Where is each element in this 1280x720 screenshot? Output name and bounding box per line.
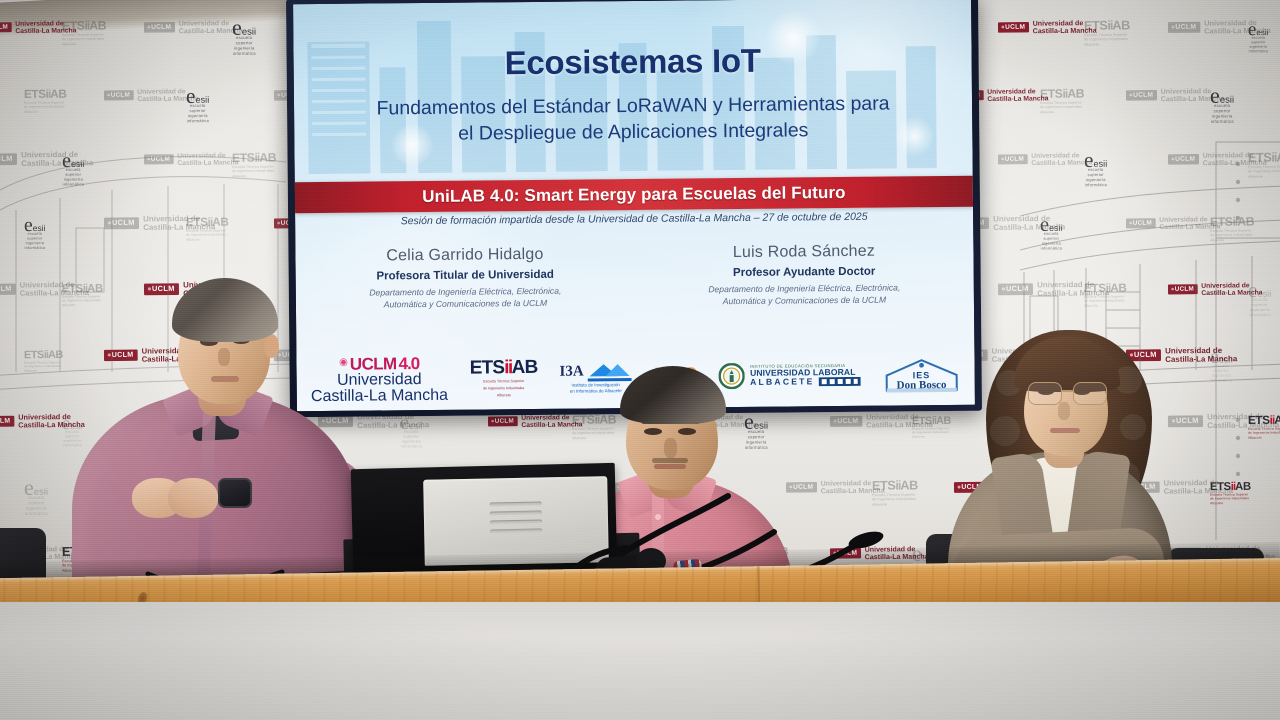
esii-glyph: eesii: [1248, 281, 1271, 298]
person-left-smartwatch: [218, 478, 252, 508]
esii-sub: escuelasuperioringenieríainformática: [1084, 168, 1108, 188]
logo-etsiiab: ETSiiAB Escuela Técnica Superior de Inge…: [470, 358, 538, 398]
banner-logo-etsiiab: ETSiiABEscuela Técnica Superiorde Ingeni…: [1084, 282, 1127, 308]
uclm-mark: ●UCLM: [0, 22, 12, 32]
etsiiab-sub: Escuela Técnica Superiorde Ingenieros In…: [186, 229, 229, 242]
banner-logo-etsiiab: ETSiiABEscuela Técnica Superiorde Ingeni…: [1248, 414, 1280, 440]
etsiiab-sub: Escuela Técnica Superiorde Ingenieros In…: [1248, 427, 1280, 440]
uclm-mark: ●UCLM: [1168, 154, 1199, 165]
uclm-mark: ●UCLM: [488, 416, 518, 426]
esii-glyph: eesii: [1210, 87, 1234, 105]
presentation-screen: Ecosistemas IoT Fundamentos del Estándar…: [286, 0, 982, 417]
slide-banner-text: UniLAB 4.0: Smart Energy para Escuelas d…: [422, 182, 846, 206]
slide-subtitle: Fundamentos del Estándar LoRaWAN y Herra…: [338, 90, 928, 148]
uclm-mark: ●UCLM: [998, 283, 1033, 295]
etsiiab-acronym: ETSiiAB: [1084, 282, 1127, 294]
etsiiab-acronym: ETSiiAB: [1210, 480, 1251, 492]
etsiiab-acronym: ETSiiAB: [24, 349, 63, 360]
speaker-name: Luis Roda Sánchez: [634, 242, 973, 263]
banner-logo-esii: eesiiescuelasuperioringenieríainformátic…: [1210, 87, 1235, 125]
banner-logo-etsiiab: ETSiiABEscuela Técnica Superiorde Ingeni…: [186, 216, 229, 242]
slide-banner-bar: UniLAB 4.0: Smart Energy para Escuelas d…: [295, 176, 973, 214]
esii-sub: escuelasuperioringenieríainformática: [232, 36, 256, 57]
uclm-mark: ●UCLM: [998, 154, 1028, 164]
banner-logo-esii: eesiiescuelasuperioringenieríainformátic…: [1210, 348, 1233, 383]
speaker-block: Luis Roda Sánchez Profesor Ayudante Doct…: [634, 242, 974, 308]
esii-glyph: eesii: [400, 414, 423, 430]
esii-sub: escuelasuperioringenieríainformática: [62, 168, 85, 187]
uclm-mark: ●UCLM: [1126, 90, 1157, 101]
banner-logo-esii: eesiiescuelasuperioringenieríainformátic…: [1040, 216, 1063, 251]
person-left-hair: [172, 278, 278, 342]
logo-uclm-number: 4.0: [398, 355, 419, 372]
banner-logo-esii: eesiiescuelasuperioringenieríainformátic…: [186, 87, 210, 124]
esii-sub: escuelasuperioringenieríainformática: [1040, 232, 1063, 251]
etsiiab-sub: Escuela Técnica Superiorde Ingenieros In…: [1084, 295, 1127, 308]
banner-logo-etsiiab: ETSiiABEscuela Técnica Superiorde Ingeni…: [1040, 87, 1084, 114]
person-left-hand: [168, 478, 218, 518]
slide-title: Ecosistemas IoT: [293, 40, 971, 85]
logo-etsiiab-b: AB: [512, 357, 538, 378]
banner-logo-uclm: ●UCLMUniversidad deCastilla-La Mancha: [1126, 216, 1221, 231]
uclm-text: Universidad deCastilla-La Mancha: [177, 152, 238, 166]
screenshot-root: ●UCLMUniversidad deCastilla-La ManchaETS…: [0, 0, 1280, 720]
esii-sub: escuelasuperioringenieríainformática: [1210, 104, 1234, 125]
banner-logo-esii: eesiiescuelasuperioringenieríainformátic…: [24, 479, 49, 517]
banner-logo-etsiiab: ETSiiABEscuela Técnica Superiorde Ingeni…: [1210, 215, 1254, 242]
uclm-mark: ●UCLM: [104, 217, 139, 229]
logo-etsiiab-a: ETS: [470, 358, 505, 379]
banner-logo-esii: eesiiescuelasuperioringenieríainformátic…: [400, 414, 423, 449]
uclm-mark: ●UCLM: [0, 284, 16, 296]
speaker-department: Departamento de Ingeniería Eléctrica, El…: [635, 281, 974, 308]
etsiiab-sub: Escuela Técnica Superiorde Ingenieros In…: [232, 165, 276, 178]
banner-logo-uclm: ●UCLMUniversidad deCastilla-La Mancha: [104, 88, 199, 103]
desk-front-panel: [0, 602, 1280, 720]
uclm-mark: ●UCLM: [1126, 218, 1156, 228]
banner-logo-etsiiab: ETSiiABEscuela Técnica Superiorde Ingeni…: [24, 349, 63, 373]
banner-logo-uclm: ●UCLMUniversidad deCastilla-La Mancha: [144, 152, 239, 167]
person-right-glasses: [1028, 382, 1106, 404]
banner-logo-etsiiab: ETSiiABEscuela Técnica Superiorde Ingeni…: [62, 19, 106, 46]
etsiiab-sub: Escuela Técnica Superiorde Ingenieros In…: [1210, 229, 1254, 242]
esii-sub: escuelasuperioringenieríainformática: [186, 104, 210, 124]
banner-logo-esii: eesiiescuelasuperioringenieríainformátic…: [62, 152, 85, 187]
esii-sub: escuelasuperioringenieríainformática: [24, 496, 48, 517]
banner-logo-uclm: ●UCLMUniversidad deCastilla-La Mancha: [998, 152, 1093, 167]
esii-glyph: eesii: [62, 152, 85, 168]
uclm-mark: ●UCLM: [1168, 284, 1198, 294]
etsiiab-sub: Escuela Técnica Superiorde Ingenieros In…: [1040, 101, 1084, 114]
esii-sub: escuelasuperioringenieríainformática: [400, 430, 423, 449]
person-left-ear: [264, 334, 279, 358]
etsiiab-sub: Escuela Técnica Superiorde Ingenieros In…: [1248, 165, 1280, 179]
etsiiab-sub: Escuela Técnica Superiorde Ingenieros In…: [24, 361, 63, 373]
speaker-dept-line2: Automática y Comunicaciones de la UCLM: [635, 293, 974, 308]
banner-logo-esii: eesiiescuelasuperioringenieríainformátic…: [1084, 151, 1108, 188]
uclm-mark: ●UCLM: [1168, 22, 1200, 33]
esii-sub: escuelasuperioringenieríainformática: [1210, 364, 1233, 383]
esii-glyph: eesii: [1040, 216, 1063, 232]
esii-glyph: eesii: [1248, 22, 1269, 37]
logo-etsiiab-sub3: Albacete: [497, 393, 511, 398]
etsiiab-acronym: ETSiiAB: [232, 151, 276, 164]
banner-logo-uclm: ●UCLMUniversidad deCastilla-La Mancha: [998, 19, 1097, 34]
etsiiab-acronym: ETSiiAB: [1210, 215, 1254, 228]
etsiiab-acronym: ETSiiAB: [24, 88, 67, 100]
etsiiab-acronym: ETSiiAB: [62, 19, 106, 32]
logo-etsiiab-sub1: Escuela Técnica Superior: [483, 380, 524, 385]
etsiiab-acronym: ETSiiAB: [1248, 151, 1280, 164]
esii-glyph: eesii: [186, 87, 209, 104]
etsiiab-sub: Escuela Técnica Superiorde Ingenieros In…: [1084, 33, 1130, 47]
uclm-mark: ●UCLM: [998, 22, 1029, 33]
etsiiab-acronym: ETSiiAB: [186, 216, 229, 228]
slide-content: Ecosistemas IoT Fundamentos del Estándar…: [293, 0, 975, 411]
banner-logo-etsiiab: ETSiiABEscuela Técnica Superiorde Ingeni…: [1084, 19, 1130, 47]
banner-logo-uclm: ●UCLMUniversidad deCastilla-La Mancha: [144, 19, 243, 34]
etsiiab-sub: Escuela Técnica Superiorde Ingenieros In…: [912, 427, 951, 439]
esii-glyph: eesii: [24, 217, 46, 233]
uclm-mark: ●UCLM: [104, 90, 134, 100]
uclm-mark: ●UCLM: [0, 416, 14, 427]
etsiiab-acronym: ETSiiAB: [1248, 414, 1280, 426]
etsiiab-acronym: ETSiiAB: [1084, 19, 1130, 32]
etsiiab-sub: Escuela Técnica Superiorde Ingenieros In…: [24, 101, 67, 114]
banner-logo-etsiiab: ETSiiABEscuela Técnica Superiorde Ingeni…: [1248, 151, 1280, 179]
screen-bezel: Ecosistemas IoT Fundamentos del Estándar…: [286, 0, 982, 417]
slide-session-note: Sesión de formación impartida desde la U…: [295, 210, 973, 229]
banner-logo-esii: eesiiescuelasuperioringenieríainformátic…: [232, 19, 257, 57]
esii-sub: escuelasuperioringenieríainformática: [24, 232, 46, 250]
banner-logo-esii: eesiiescuelasuperioringenieríainformátic…: [1248, 281, 1272, 318]
etsiiab-acronym: ETSiiAB: [912, 415, 951, 426]
uclm-mark: ●UCLM: [144, 22, 175, 33]
banner-logo-etsiiab: ETSiiABEscuela Técnica Superiorde Ingeni…: [912, 415, 951, 439]
banner-logo-etsiiab: ETSiiABEscuela Técnica Superiorde Ingeni…: [24, 88, 67, 114]
etsiiab-sub: Escuela Técnica Superiorde Ingenieros In…: [1210, 493, 1251, 505]
person-center-hair: [620, 366, 726, 424]
banner-logo-etsiiab: ETSiiABEscuela Técnica Superiorde Ingeni…: [232, 151, 276, 178]
esii-glyph: eesii: [1084, 151, 1107, 168]
etsiiab-sub: Escuela Técnica Superiorde Ingenieros In…: [62, 33, 106, 46]
uclm-mark: ●UCLM: [144, 154, 174, 164]
esii-glyph: eesii: [24, 479, 48, 497]
banner-logo-esii: eesiiescuelasuperioringenieríainformátic…: [1248, 22, 1269, 54]
esii-sub: escuelasuperioringenieríainformática: [1248, 298, 1272, 318]
logo-ies-line2: Don Bosco: [897, 380, 947, 391]
speaker-name: Celia Garrido Hidalgo: [295, 245, 634, 266]
slide-speakers: Celia Garrido Hidalgo Profesora Titular …: [295, 242, 974, 312]
banner-logo-etsiiab: ETSiiABEscuela Técnica Superiorde Ingeni…: [1210, 480, 1251, 505]
banner-logo-esii: eesiiescuelasuperioringenieríainformátic…: [24, 217, 46, 251]
ula-bar-icon: [818, 377, 860, 386]
esii-glyph: eesii: [232, 19, 256, 37]
esii-sub: escuelasuperioringenieríainformática: [1248, 36, 1269, 53]
esii-glyph: eesii: [1210, 348, 1233, 364]
uclm-mark: ●UCLM: [830, 416, 862, 427]
uclm-mark: ●UCLM: [0, 153, 17, 165]
speaker-role: Profesor Ayudante Doctor: [635, 265, 974, 280]
etsiiab-acronym: ETSiiAB: [1040, 87, 1084, 100]
logo-etsiiab-sub2: de Ingenieros Industriales: [483, 386, 524, 391]
